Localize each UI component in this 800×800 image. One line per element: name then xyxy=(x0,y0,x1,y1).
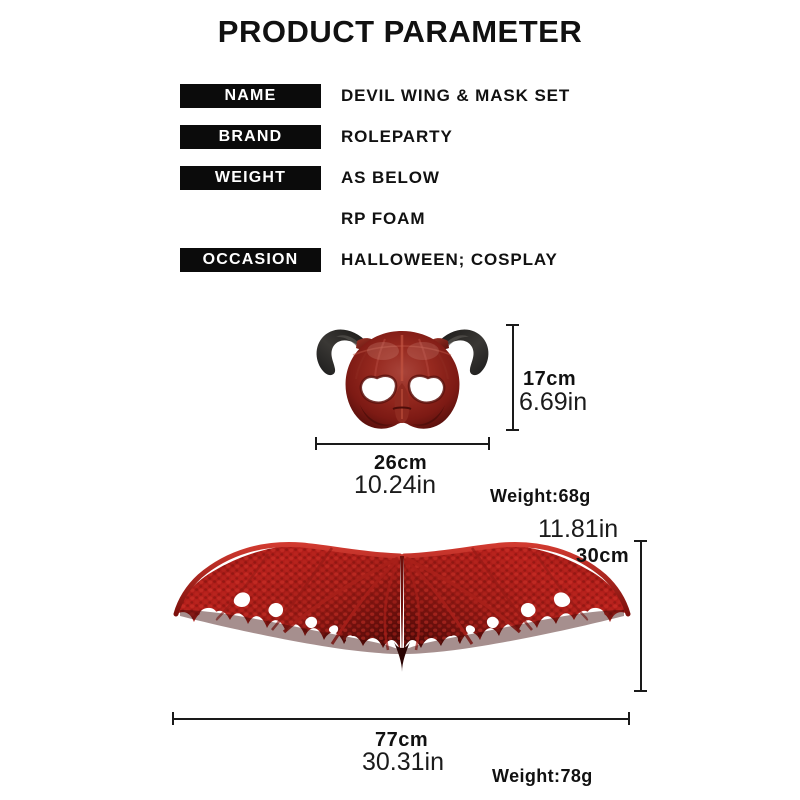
spec-value-material: RP FOAM xyxy=(341,208,425,230)
page-title: PRODUCT PARAMETER xyxy=(0,14,800,50)
devil-bat-wings-icon xyxy=(172,532,632,702)
devil-wings-image xyxy=(172,532,632,702)
mask-width-dimension-line xyxy=(315,437,490,450)
spec-label-name: NAME xyxy=(180,84,321,108)
wing-left xyxy=(176,544,400,654)
mask-width-in-label: 10.24in xyxy=(354,471,436,500)
spec-table: NAME DEVIL WING & MASK SET BRAND ROLEPAR… xyxy=(180,84,650,289)
wing-height-in-label: 11.81in xyxy=(538,515,618,544)
spec-label-weight: WEIGHT xyxy=(180,166,321,190)
wing-height-cm-label: 30cm xyxy=(576,545,629,568)
devil-mask-image xyxy=(305,305,500,435)
spec-label-material xyxy=(180,207,321,231)
wing-width-in-label: 30.31in xyxy=(362,748,444,777)
product-parameter-page: PRODUCT PARAMETER NAME DEVIL WING & MASK… xyxy=(0,0,800,800)
mask-weight-label: Weight:68g xyxy=(490,486,591,507)
spec-value-weight: AS BELOW xyxy=(341,167,440,189)
spec-row: WEIGHT AS BELOW xyxy=(180,166,650,207)
wing-width-dimension-line xyxy=(172,712,630,725)
mask-height-in-label: 6.69in xyxy=(519,388,587,417)
spec-row: OCCASION HALLOWEEN; COSPLAY xyxy=(180,248,650,289)
spec-value-brand: ROLEPARTY xyxy=(341,126,453,148)
spec-row: BRAND ROLEPARTY xyxy=(180,125,650,166)
spec-row: NAME DEVIL WING & MASK SET xyxy=(180,84,650,125)
devil-horned-mask-icon xyxy=(305,305,500,435)
spec-value-occasion: HALLOWEEN; COSPLAY xyxy=(341,249,558,271)
spec-value-name: DEVIL WING & MASK SET xyxy=(341,85,570,107)
spec-label-occasion: OCCASION xyxy=(180,248,321,272)
wing-height-dimension-line xyxy=(634,540,647,692)
spec-label-brand: BRAND xyxy=(180,125,321,149)
spec-row: RP FOAM xyxy=(180,207,650,248)
mask-height-dimension-line xyxy=(506,324,519,431)
wing-weight-label: Weight:78g xyxy=(492,766,593,787)
